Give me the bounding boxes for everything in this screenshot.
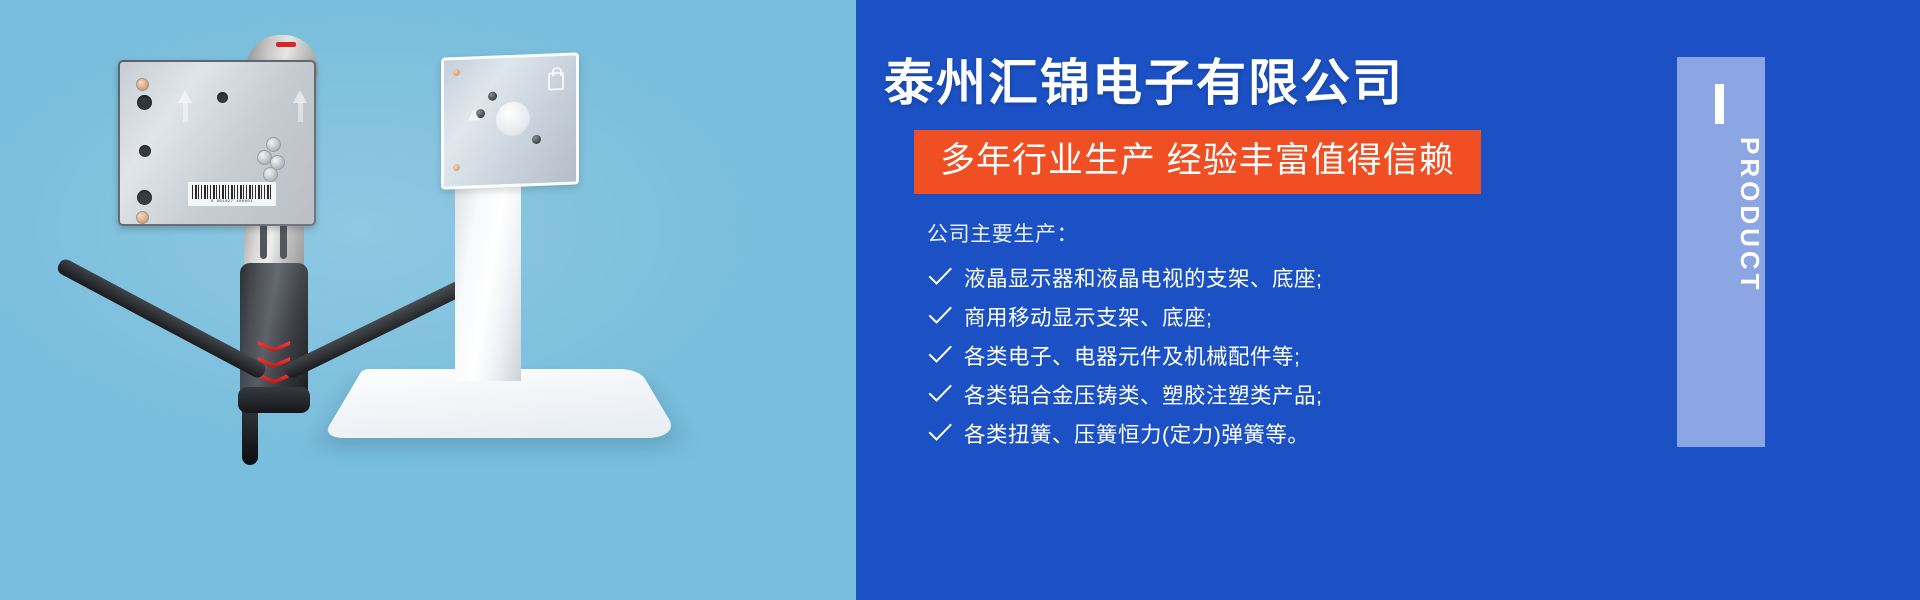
plate-corner-screw	[136, 78, 149, 91]
check-icon	[927, 381, 953, 407]
list-item-label: 商用移动显示支架、底座;	[964, 301, 1212, 332]
plate-corner-screw	[453, 164, 460, 171]
feature-list: 液晶显示器和液晶电视的支架、底座; 商用移动显示支架、底座; 各类电子、电器元件…	[927, 258, 1322, 453]
list-item-label: 液晶显示器和液晶电视的支架、底座;	[964, 262, 1322, 293]
vesa-mount-plate: 6 901027 400001	[118, 60, 316, 226]
slogan-text: 多年行业生产 经验丰富值得信赖	[940, 141, 1455, 181]
plate-hole	[137, 190, 152, 205]
red-chevron-icon	[258, 341, 290, 352]
list-item: 商用移动显示支架、底座;	[927, 297, 1322, 335]
stand-black-column	[240, 263, 308, 403]
product-photo-panel: 6 901027 400001	[0, 0, 856, 600]
vesa-mount-plate	[441, 52, 579, 189]
product-banner: 6 901027 400001	[0, 0, 1920, 600]
plate-corner-screw	[136, 211, 149, 224]
plate-adjust-screw	[488, 91, 497, 100]
pedestal-column	[455, 173, 521, 381]
orientation-arrow-icon	[468, 109, 480, 120]
list-item: 液晶显示器和液晶电视的支架、底座;	[927, 258, 1322, 296]
plate-adjust-screw	[263, 167, 278, 182]
barcode-label: 6 901027 400001	[188, 182, 276, 206]
plate-adjust-screw	[266, 137, 281, 152]
intro-label: 公司主要生产：	[927, 218, 1078, 248]
tripod-hub	[238, 387, 310, 413]
white-pedestal-monitor-stand-image	[345, 55, 765, 445]
plate-corner-screw	[453, 69, 460, 76]
product-tab-label: PRODUCT	[1677, 137, 1765, 294]
list-item: 各类电子、电器元件及机械配件等;	[927, 336, 1322, 374]
company-title: 泰州汇锦电子有限公司	[884, 43, 1404, 115]
list-item-label: 各类电子、电器元件及机械配件等;	[964, 340, 1300, 371]
check-icon	[927, 303, 953, 329]
barcode-bars	[192, 185, 272, 199]
orientation-arrow-icon	[183, 102, 188, 122]
tripod-leg-left	[55, 257, 267, 380]
product-side-tab[interactable]: PRODUCT	[1677, 57, 1765, 447]
dash-mark-icon	[1715, 84, 1724, 124]
lock-icon	[548, 72, 564, 91]
list-item: 各类扭簧、压簧恒力(定力)弹簧等。	[927, 414, 1322, 452]
barcode-number: 6 901027 400001	[188, 199, 276, 205]
list-item-label: 各类扭簧、压簧恒力(定力)弹簧等。	[964, 418, 1309, 449]
plate-hole	[139, 145, 151, 157]
plate-adjust-screw	[532, 135, 541, 144]
check-icon	[927, 264, 953, 290]
orientation-arrow-icon	[298, 102, 303, 122]
plate-hole	[217, 92, 228, 103]
top-cap-red-accent	[276, 42, 296, 47]
list-item-label: 各类铝合金压铸类、塑胶注塑类产品;	[964, 379, 1322, 410]
list-item: 各类铝合金压铸类、塑胶注塑类产品;	[927, 375, 1322, 413]
plate-hole	[137, 95, 152, 110]
check-icon	[927, 342, 953, 368]
check-icon	[927, 420, 953, 446]
plate-center-boss	[496, 101, 530, 136]
slogan-badge: 多年行业生产 经验丰富值得信赖	[914, 130, 1481, 194]
